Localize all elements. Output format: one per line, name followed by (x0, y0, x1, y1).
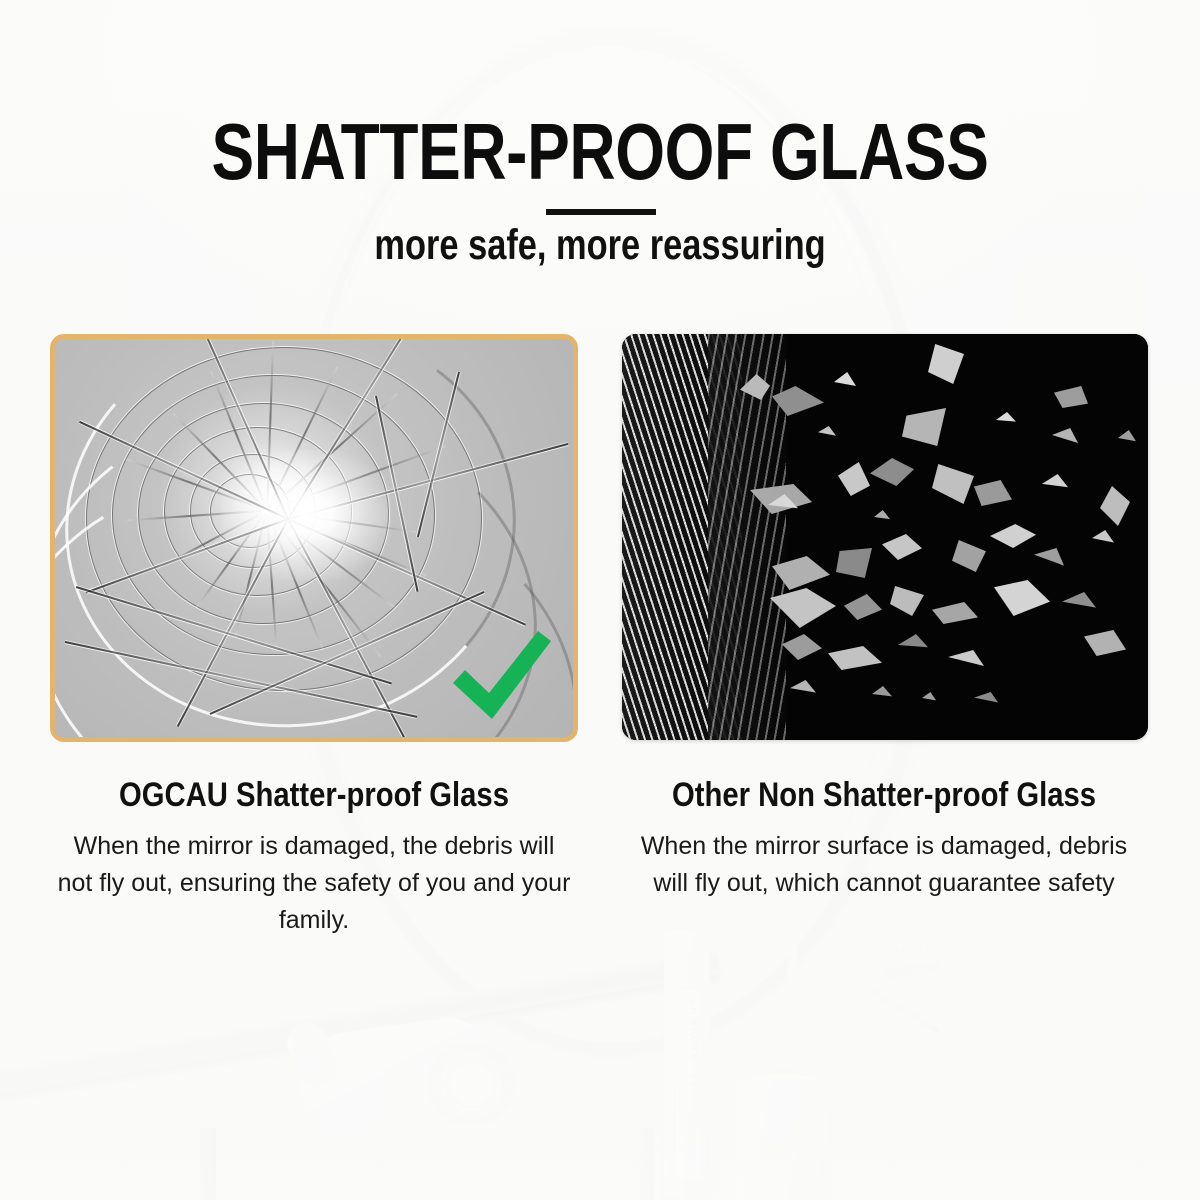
page-title: SHATTER-PROOF GLASS (120, 112, 1080, 192)
cracked-glass-photo (55, 339, 573, 737)
title-divider (546, 209, 656, 215)
other-non-shatter-proof-panel (622, 334, 1148, 740)
left-caption-heading: OGCAU Shatter-proof Glass (73, 776, 555, 814)
impact-point-glow (221, 450, 391, 580)
shard-cluster-secondary (708, 334, 786, 740)
shattered-glass-photo (622, 334, 1148, 740)
left-caption: OGCAU Shatter-proof Glass When the mirro… (34, 776, 594, 939)
right-caption-body: When the mirror surface is damaged, debr… (604, 828, 1164, 902)
page-subtitle: more safe, more reassuring (120, 221, 1080, 269)
left-caption-body: When the mirror is damaged, the debris w… (34, 828, 594, 939)
right-caption-heading: Other Non Shatter-proof Glass (643, 776, 1125, 814)
green-check-icon (445, 627, 555, 727)
ogcau-shatter-proof-panel (50, 334, 578, 742)
right-caption: Other Non Shatter-proof Glass When the m… (604, 776, 1164, 902)
infographic-page: LA BRUKET 165 SHATTER-PROOF GLASS more s… (0, 0, 1200, 1200)
